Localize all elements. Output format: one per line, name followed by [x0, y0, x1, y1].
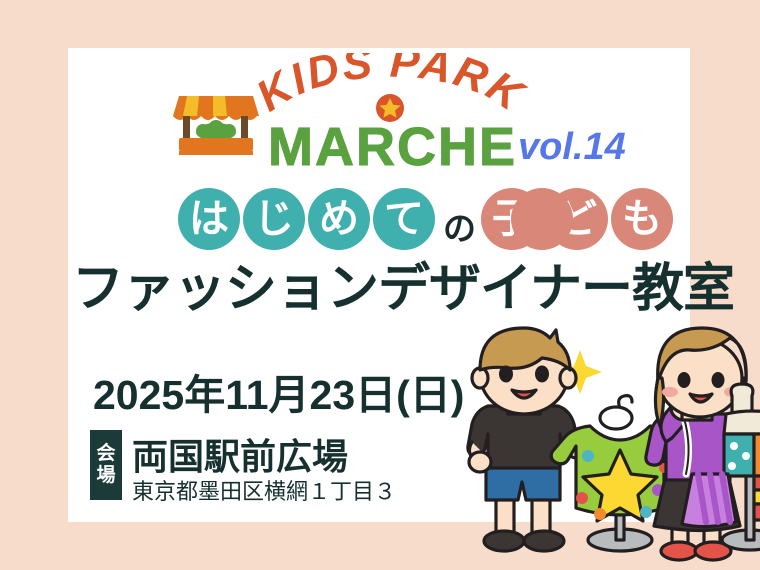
circle-char-6-spacer: [511, 188, 573, 250]
venue-badge: 会 場: [90, 430, 122, 500]
logo-row: KIDS PARK MARCHE vol.14: [68, 48, 690, 168]
kids-fashion-design-illustration: [460, 322, 760, 570]
subtitle-circles-row: は じ め て の 子 ど も: [68, 188, 690, 260]
venue-badge-line2: 場: [96, 465, 115, 487]
connector-no: の: [443, 202, 476, 250]
page-title: ファッションデザイナー教室: [72, 263, 686, 315]
market-stall-icon: [173, 86, 259, 158]
venue-block: 会 場 両国駅前広場 東京都墨田区横網１丁目３: [90, 430, 420, 506]
poster-canvas: KIDS PARK MARCHE vol.14 は じ め て の 子 ど: [0, 0, 760, 570]
circle-char-3: て: [373, 188, 435, 250]
venue-name: 両国駅前広場: [132, 428, 348, 480]
venue-badge-line1: 会: [96, 443, 115, 465]
circle-char-2: め: [308, 188, 370, 250]
venue-address: 東京都墨田区横網１丁目３: [132, 474, 396, 506]
circle-char-1: じ: [243, 188, 305, 250]
marche-wordmark: MARCHE: [268, 116, 517, 178]
circle-char-0: は: [178, 188, 240, 250]
event-date: 2025年11月23日(日): [93, 361, 464, 421]
volume-label: vol.14: [518, 126, 626, 169]
circle-char-6: も: [611, 188, 673, 250]
